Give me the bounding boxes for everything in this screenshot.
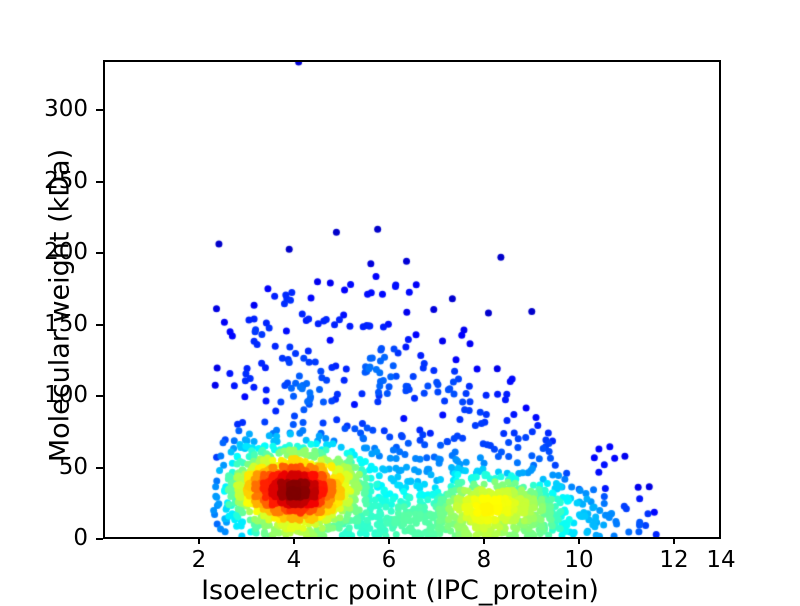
- x-tick-label: 8: [454, 546, 514, 574]
- x-tick-mark: [293, 537, 295, 544]
- y-tick-mark: [96, 109, 103, 111]
- x-tick-mark: [673, 537, 675, 544]
- y-tick-mark: [96, 181, 103, 183]
- y-tick-mark: [96, 252, 103, 254]
- y-tick-mark: [96, 395, 103, 397]
- plot-area: [103, 60, 721, 539]
- x-tick-label: 2: [169, 546, 229, 574]
- x-tick-mark: [198, 537, 200, 544]
- y-tick-mark: [96, 538, 103, 540]
- y-axis-title: Molecular weight (kDa): [45, 66, 76, 546]
- x-tick-mark: [483, 537, 485, 544]
- y-tick-mark: [96, 467, 103, 469]
- x-tick-label: 4: [264, 546, 324, 574]
- x-tick-label: 10: [549, 546, 609, 574]
- x-axis-title: Isoelectric point (IPC_protein): [0, 575, 800, 606]
- y-tick-mark: [96, 324, 103, 326]
- scatter-points-canvas: [105, 62, 719, 537]
- x-tick-mark: [578, 537, 580, 544]
- x-tick-label: 14: [691, 546, 751, 574]
- x-tick-label: 6: [359, 546, 419, 574]
- scatter-plot-figure: 2 4 6 8 10 12 14 0 50 100 150 200 250 30…: [0, 0, 800, 600]
- x-tick-mark: [388, 537, 390, 544]
